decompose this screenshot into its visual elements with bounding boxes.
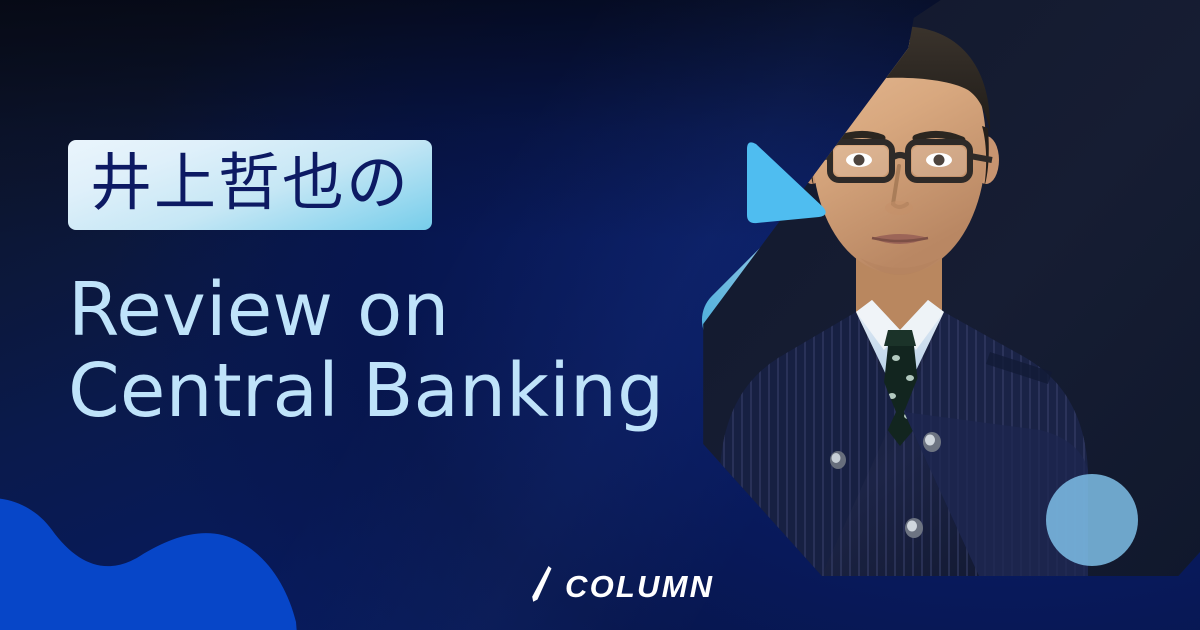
headline-line-2: Central Banking — [68, 351, 668, 432]
author-badge: 井上哲也の — [68, 140, 432, 230]
headline-line-1: Review on — [68, 267, 450, 353]
column-banner: 井上哲也の Review on Central Banking COLUMN — [0, 0, 1200, 630]
logo-text: COLUMN — [565, 569, 714, 605]
column-logo: COLUMN — [530, 566, 714, 607]
slash-pen-icon — [530, 566, 552, 607]
portrait-photo — [660, 0, 1200, 600]
page-title: Review on Central Banking — [68, 270, 668, 433]
headline-block: 井上哲也の Review on Central Banking — [68, 140, 668, 433]
